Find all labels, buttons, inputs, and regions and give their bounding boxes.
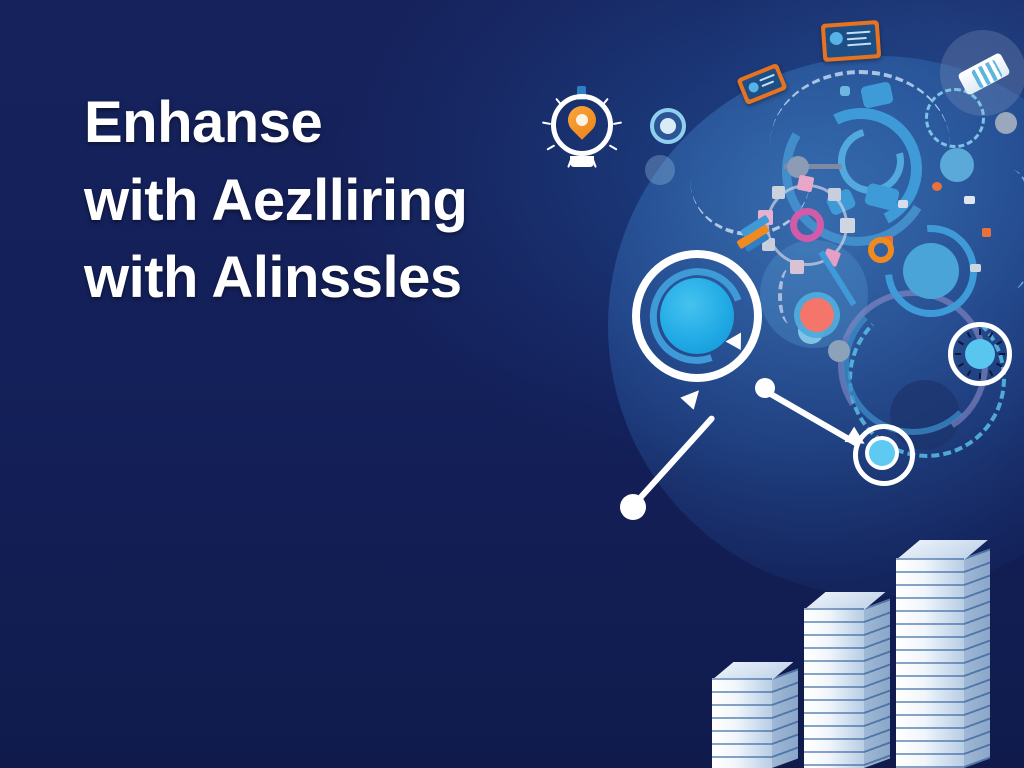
gauge-hub bbox=[965, 339, 995, 369]
confetti-chip bbox=[932, 182, 942, 191]
ring-chip bbox=[772, 186, 785, 199]
bar-face bbox=[804, 608, 864, 768]
id-card-badge-top bbox=[821, 20, 882, 62]
bar-building bbox=[896, 558, 964, 768]
blue-hub-node bbox=[903, 243, 959, 299]
id-card-line bbox=[761, 80, 774, 87]
ring-chip bbox=[790, 260, 804, 274]
node-dot-gray bbox=[787, 156, 809, 178]
confetti-chip bbox=[898, 200, 908, 208]
confetti-chip bbox=[982, 228, 991, 237]
headline-line-1: Enhanse bbox=[84, 84, 684, 162]
marketing-banner: Enhanse with Aezlliring with Alinssles bbox=[0, 0, 1024, 768]
gauge-tick bbox=[979, 373, 981, 379]
gauge-tick bbox=[955, 353, 961, 355]
bar-side bbox=[772, 669, 798, 768]
bar-face bbox=[896, 558, 964, 768]
node-dot-blue bbox=[940, 148, 974, 182]
coral-node bbox=[800, 298, 834, 332]
dome-dot-sq bbox=[840, 86, 850, 96]
bar-chart-buildings bbox=[700, 540, 1024, 768]
orange-ring-small bbox=[868, 237, 894, 263]
bar-side bbox=[964, 549, 990, 768]
id-card-line bbox=[846, 31, 870, 35]
id-card-line bbox=[847, 43, 871, 47]
ring-chip bbox=[797, 175, 815, 193]
bar-side bbox=[864, 599, 890, 768]
ring-chip bbox=[840, 218, 855, 233]
bar-building bbox=[804, 608, 864, 768]
arc-ring-dashed-topright bbox=[925, 88, 985, 148]
target-node-hub bbox=[869, 440, 895, 466]
avatar-icon bbox=[747, 81, 760, 94]
gauge-tick bbox=[999, 353, 1005, 355]
ring-chip bbox=[828, 188, 841, 201]
confetti-chip bbox=[964, 196, 975, 204]
bar-building bbox=[712, 678, 772, 768]
pink-chip-ring bbox=[758, 176, 856, 274]
bar-face bbox=[712, 678, 772, 768]
node-dot-right-gray bbox=[995, 112, 1017, 134]
avatar-icon bbox=[829, 32, 843, 46]
id-card-line bbox=[847, 37, 867, 40]
headline-line-3: with Alinssles bbox=[84, 239, 684, 317]
headline-line-2: with Aezlliring bbox=[84, 162, 684, 240]
node-dot-slate bbox=[828, 340, 850, 362]
id-card-body bbox=[825, 24, 877, 57]
page-title: Enhanse with Aezlliring with Alinssles bbox=[84, 84, 684, 317]
confetti-chip bbox=[970, 264, 981, 272]
dial-gauge-node bbox=[948, 322, 1012, 386]
gauge-tick bbox=[979, 329, 981, 335]
